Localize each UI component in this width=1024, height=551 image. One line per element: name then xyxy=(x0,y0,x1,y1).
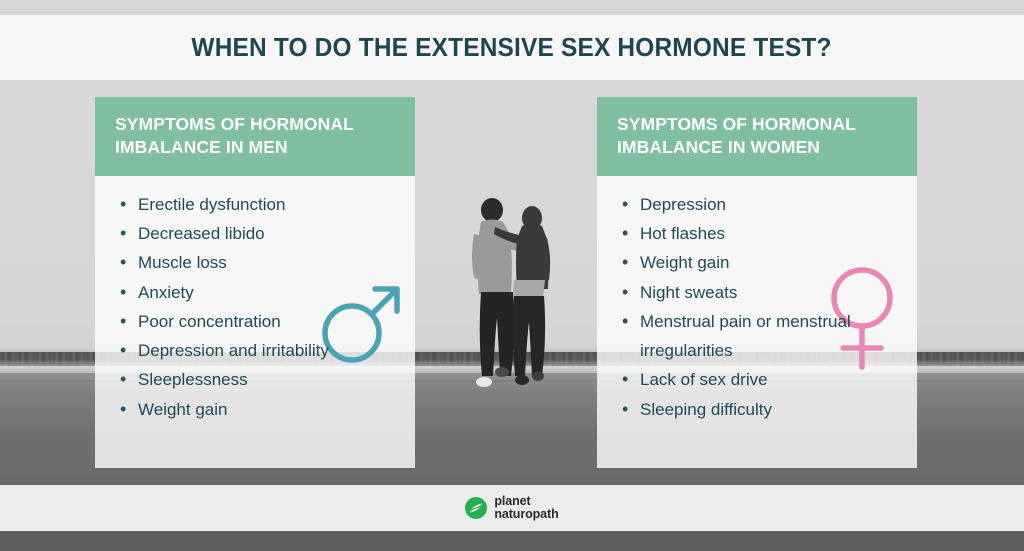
symptom-list-women: Depression Hot flashes Weight gain Night… xyxy=(613,190,901,424)
list-item: Menstrual pain or menstrual irregulariti… xyxy=(613,307,901,365)
list-item: Depression and irritability xyxy=(111,336,399,365)
list-item: Weight gain xyxy=(613,248,901,277)
panel-men: SYMPTOMS OF HORMONAL IMBALANCE IN MEN Er… xyxy=(95,97,415,468)
list-item: Night sweats xyxy=(613,278,901,307)
page-title: WHEN TO DO THE EXTENSIVE SEX HORMONE TES… xyxy=(192,32,832,63)
list-item: Weight gain xyxy=(111,395,399,424)
couple-photo-subject xyxy=(452,196,572,396)
panel-men-body: Erectile dysfunction Decreased libido Mu… xyxy=(95,176,415,468)
title-bar: WHEN TO DO THE EXTENSIVE SEX HORMONE TES… xyxy=(0,15,1024,80)
list-item: Hot flashes xyxy=(613,219,901,248)
top-band xyxy=(0,0,1024,15)
logo-line-2: naturopath xyxy=(494,508,558,521)
list-item: Decreased libido xyxy=(111,219,399,248)
symptom-list-men: Erectile dysfunction Decreased libido Mu… xyxy=(111,190,399,424)
list-item: Lack of sex drive xyxy=(613,365,901,394)
logo-wordmark: planet naturopath xyxy=(494,495,558,521)
panel-men-header: SYMPTOMS OF HORMONAL IMBALANCE IN MEN xyxy=(95,97,415,176)
list-item: Sleeping difficulty xyxy=(613,395,901,424)
list-item: Depression xyxy=(613,190,901,219)
brand-logo[interactable]: planet naturopath xyxy=(0,485,1024,531)
list-item: Erectile dysfunction xyxy=(111,190,399,219)
list-item: Poor concentration xyxy=(111,307,399,336)
panel-women-header: SYMPTOMS OF HORMONAL IMBALANCE IN WOMEN xyxy=(597,97,917,176)
panel-women-body: Depression Hot flashes Weight gain Night… xyxy=(597,176,917,468)
infographic-poster: WHEN TO DO THE EXTENSIVE SEX HORMONE TES… xyxy=(0,0,1024,551)
list-item: Sleeplessness xyxy=(111,365,399,394)
panel-women: SYMPTOMS OF HORMONAL IMBALANCE IN WOMEN … xyxy=(597,97,917,468)
list-item: Muscle loss xyxy=(111,248,399,277)
list-item: Anxiety xyxy=(111,278,399,307)
bottom-band xyxy=(0,531,1024,551)
leaf-circle-icon xyxy=(465,497,487,519)
